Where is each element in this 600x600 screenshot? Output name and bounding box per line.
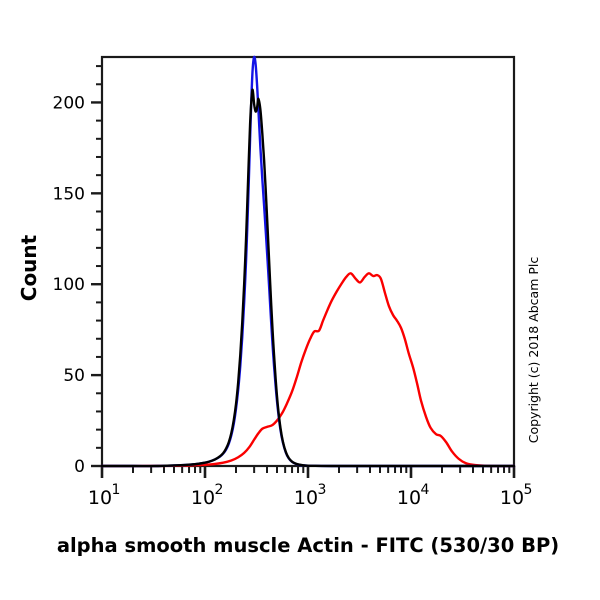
copyright-notice: Copyright (c) 2018 Abcam Plc [526, 257, 541, 444]
x-tick-label-exponent: 2 [215, 482, 224, 498]
x-tick-label-base: 10 [191, 487, 215, 509]
x-tick-label-exponent: 5 [524, 482, 533, 498]
x-tick-label-exponent: 4 [421, 482, 430, 498]
y-tick-label: 100 [53, 275, 85, 295]
y-axis-tick-labels: 050100150200 [53, 93, 85, 477]
y-axis-title: Count [17, 234, 41, 301]
x-tick-label-base: 10 [500, 487, 524, 509]
y-tick-label: 200 [53, 93, 85, 113]
y-tick-label: 50 [63, 366, 85, 386]
flow-cytometry-figure: 050100150200 101102103104105 Count alpha… [0, 0, 600, 600]
y-tick-label: 150 [53, 184, 85, 204]
histogram-plot: 050100150200 101102103104105 Count alpha… [0, 0, 600, 600]
x-axis-ticks [102, 466, 514, 478]
x-tick-label-base: 10 [88, 487, 112, 509]
y-tick-label: 0 [74, 457, 85, 477]
x-tick-label-exponent: 1 [112, 482, 121, 498]
x-tick-label-exponent: 3 [318, 482, 327, 498]
x-tick-label-base: 10 [397, 487, 421, 509]
plot-frame [102, 57, 514, 466]
x-tick-label-base: 10 [294, 487, 318, 509]
x-axis-title: alpha smooth muscle Actin - FITC (530/30… [57, 534, 559, 557]
y-axis-ticks [91, 66, 102, 466]
x-axis-tick-labels: 101102103104105 [88, 482, 533, 509]
